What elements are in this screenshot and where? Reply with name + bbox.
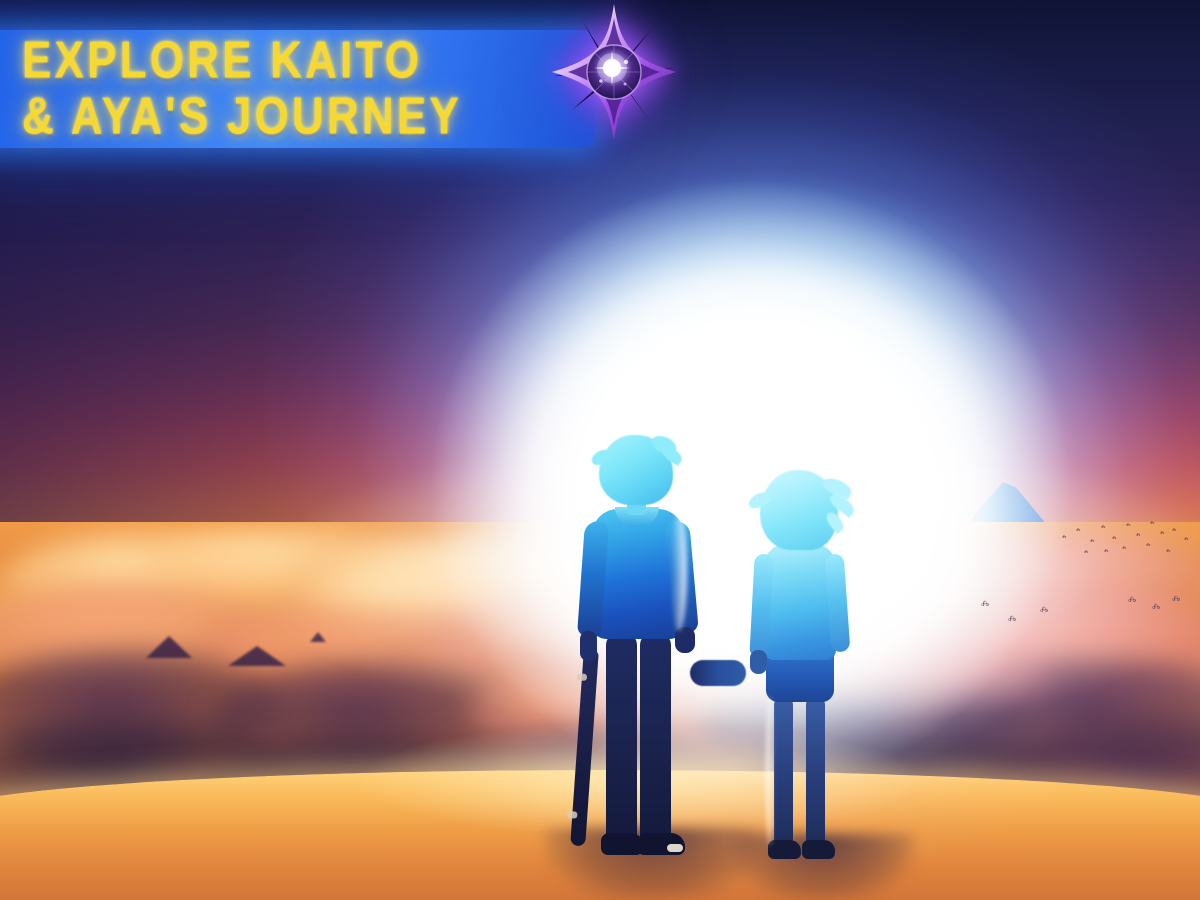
aya-leg-right (806, 696, 825, 848)
bird: ⰾ (1104, 548, 1108, 555)
bird: ⰾ (1184, 536, 1188, 543)
aya-hand-left (750, 650, 767, 674)
aya-shoe-right (802, 840, 835, 859)
bird: ⰾ (981, 597, 989, 610)
skateboard (570, 650, 599, 847)
bird: ⰾ (1146, 542, 1150, 549)
aya-shoe-left (768, 840, 801, 859)
bird: ⰾ (1172, 592, 1180, 605)
banner-title-line-2: & AYA'S JOURNEY (22, 90, 596, 144)
character-aya (740, 470, 860, 870)
promo-banner[interactable]: EXPLORE KAITO & AYA'S JOURNEY (0, 30, 596, 148)
aya-leg-left (774, 696, 793, 848)
bird: ⰾ (1166, 548, 1170, 555)
cloud-bank (300, 562, 520, 622)
banner-title-line-1: EXPLORE KAITO (22, 34, 596, 88)
bird: ⰾ (1101, 524, 1105, 531)
bird: ⰾ (1152, 600, 1160, 613)
joined-hands (690, 660, 746, 686)
bird: ⰾ (1084, 549, 1088, 556)
bird: ⰾ (1062, 534, 1066, 541)
bird: ⰾ (1076, 527, 1080, 534)
scene-root: ⰾⰾⰾⰾⰾⰾⰾⰾⰾⰾⰾⰾⰾⰾⰾⰾⰾⰾⰾⰾⰾⰾ (0, 0, 1200, 900)
bird: ⰾ (1122, 545, 1126, 552)
bird: ⰾ (1126, 522, 1130, 529)
bird: ⰾ (1128, 593, 1136, 606)
skateboard-wheel (567, 811, 577, 819)
character-kaito (575, 435, 705, 870)
bird: ⰾ (1112, 535, 1116, 542)
distant-peak (310, 632, 326, 642)
bird: ⰾ (1090, 538, 1094, 545)
bird: ⰾ (1160, 530, 1164, 537)
kaito-leg-left (606, 633, 637, 841)
kaito-shoe-right (637, 833, 685, 855)
distant-peak (146, 636, 192, 658)
bird: ⰾ (1136, 532, 1140, 539)
distant-peak (228, 646, 286, 666)
bird: ⰾ (1150, 520, 1154, 527)
kaito-hand-left (580, 631, 597, 661)
bird: ⰾ (1008, 612, 1016, 625)
sparkle-star-gem-icon[interactable] (548, 2, 680, 142)
bird: ⰾ (1172, 527, 1176, 534)
skateboard-wheel (577, 673, 587, 681)
aya-leg-rim-light (766, 696, 774, 846)
bird: ⰾ (1040, 603, 1048, 616)
kaito-hand-right (675, 627, 695, 653)
kaito-leg-right (640, 633, 671, 841)
